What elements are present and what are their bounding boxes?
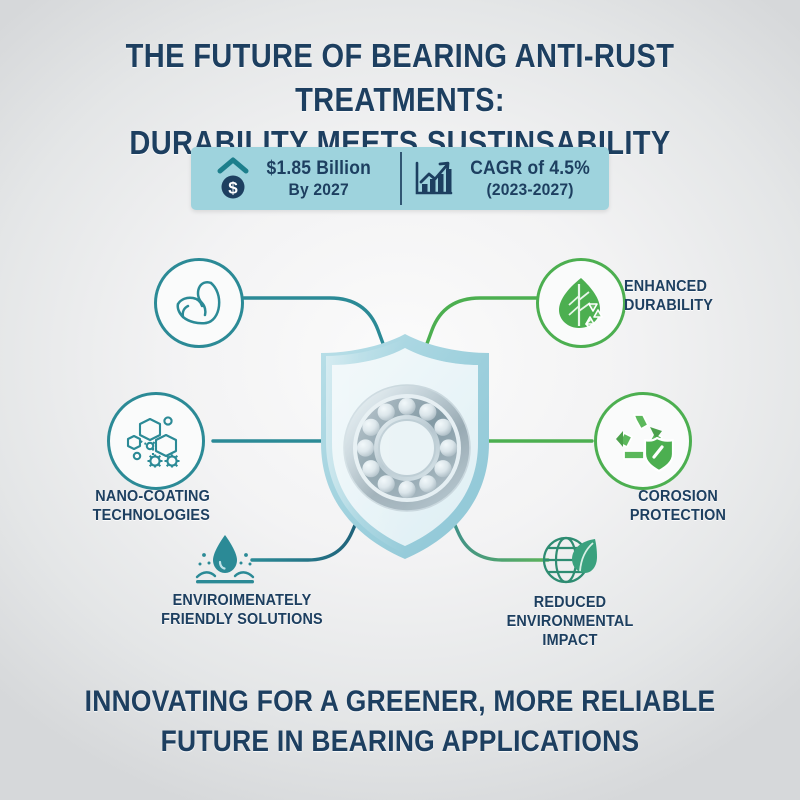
node-enhanced-durability[interactable] xyxy=(536,258,626,348)
stats-bar: $ $1.85 Billion By 2027 CAGR of 4.5% (20… xyxy=(191,147,609,210)
stat-cagr: CAGR of 4.5% (2023-2027) xyxy=(400,147,609,210)
stat-market-value-number: $1.85 Billion xyxy=(267,158,371,179)
hexagon-molecules-gears-icon xyxy=(124,411,188,471)
label-corosion-protection-line-2: Protection xyxy=(630,507,726,524)
footer-line-2: Future in Bearing Applications xyxy=(48,722,752,762)
node-friendly-solutions[interactable] xyxy=(192,528,258,590)
label-friendly-solutions-line-1: Enviroimenately xyxy=(173,592,312,609)
label-reduced-impact-line-1: Reduced xyxy=(534,594,606,611)
recycle-shield-icon xyxy=(610,409,676,473)
label-nano-coating-line-1: Nano-Coating xyxy=(95,488,210,505)
shield-with-ball-bearing-icon xyxy=(312,330,498,562)
node-corosion-protection[interactable] xyxy=(594,392,692,490)
label-enhanced-durability: Enhanced Durability xyxy=(624,278,800,316)
label-reduced-impact: Reduced Environmental Impact xyxy=(489,594,651,651)
stat-cagr-text: CAGR of 4.5% (2023-2027) xyxy=(470,158,590,198)
headline-line-1: The Future of Bearing Anti-Rust Treatmen… xyxy=(126,37,675,118)
label-friendly-solutions: Enviroimenately Friendly Solutions xyxy=(134,592,350,630)
footer-tagline: Innovating for a Greener, More Reliable … xyxy=(48,682,752,762)
label-enhanced-durability-line-1: Enhanced xyxy=(624,278,707,295)
dollar-coin-up-arrow-icon: $ xyxy=(215,157,251,201)
label-reduced-impact-line-3: Impact xyxy=(542,632,597,649)
label-nano-coating: Nano-Coating Technologies xyxy=(30,488,210,526)
stat-cagr-number: CAGR of 4.5% xyxy=(470,158,590,179)
footer-line-1: Innovating for a Greener, More Reliable xyxy=(85,685,716,718)
label-corosion-protection: Corosion Protection xyxy=(597,488,759,526)
label-corosion-protection-line-1: Corosion xyxy=(638,488,718,505)
infographic-page: The Future of Bearing Anti-Rust Treatmen… xyxy=(0,0,800,800)
water-droplet-surface-icon xyxy=(193,529,257,589)
label-nano-coating-line-2: Technologies xyxy=(93,507,210,524)
flexed-bicep-icon xyxy=(171,277,227,329)
node-reduced-impact[interactable] xyxy=(538,530,602,590)
node-strength[interactable] xyxy=(154,258,244,348)
page-title: The Future of Bearing Anti-Rust Treatmen… xyxy=(48,34,752,165)
stat-market-value-sub: By 2027 xyxy=(267,180,371,199)
label-enhanced-durability-line-2: Durability xyxy=(624,297,713,314)
stat-market-value-text: $1.85 Billion By 2027 xyxy=(267,158,371,198)
bar-chart-growth-icon xyxy=(414,160,454,198)
stat-market-value: $ $1.85 Billion By 2027 xyxy=(191,147,400,210)
leaf-recycle-icon xyxy=(552,274,610,332)
stat-cagr-sub: (2023-2027) xyxy=(470,180,590,199)
label-friendly-solutions-line-2: Friendly Solutions xyxy=(161,611,323,628)
globe-leaf-icon xyxy=(539,531,601,589)
node-nano-coating[interactable] xyxy=(107,392,205,490)
svg-text:$: $ xyxy=(229,178,239,197)
label-reduced-impact-line-2: Environmental xyxy=(507,613,634,630)
